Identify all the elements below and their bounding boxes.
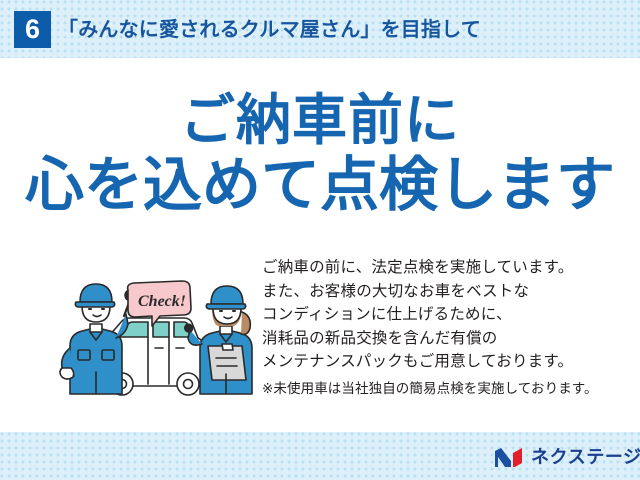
body-line-4: 消耗品の新品交換を含んだ有償の (262, 327, 630, 351)
page-title: ご納車前に 心を込めて点検します (0, 88, 640, 218)
promo-banner: 6 「みんなに愛されるクルマ屋さん」を目指して ご納車前に 心を込めて点検します (0, 0, 640, 480)
body-copy: ご納車の前に、法定点検を実施しています。 また、お客様の大切なお車をベストな コ… (262, 256, 630, 374)
mechanics-illustration: Check! (56, 276, 256, 404)
header-badge-number: 6 (14, 11, 51, 48)
check-bubble-label: Check! (138, 293, 186, 310)
brand-name: ネクステージ (531, 447, 640, 468)
body-line-2: また、お客様の大切なお車をベストな (262, 280, 630, 304)
headline-line-2: 心を込めて点検します (0, 152, 640, 218)
brand-logo: ネクステージ (494, 444, 640, 470)
nextage-n-icon (494, 447, 524, 468)
header-title: 「みんなに愛されるクルマ屋さん」を目指して (58, 14, 481, 46)
body-line-3: コンディションに仕上げるために、 (262, 303, 630, 327)
disclaimer-note: ※未使用車は当社独自の簡易点検を実施しております。 (262, 379, 598, 399)
body-line-5: メンテナンスパックもご用意しております。 (262, 350, 630, 374)
body-line-1: ご納車の前に、法定点検を実施しています。 (262, 256, 630, 280)
headline-line-1: ご納車前に (0, 88, 640, 152)
